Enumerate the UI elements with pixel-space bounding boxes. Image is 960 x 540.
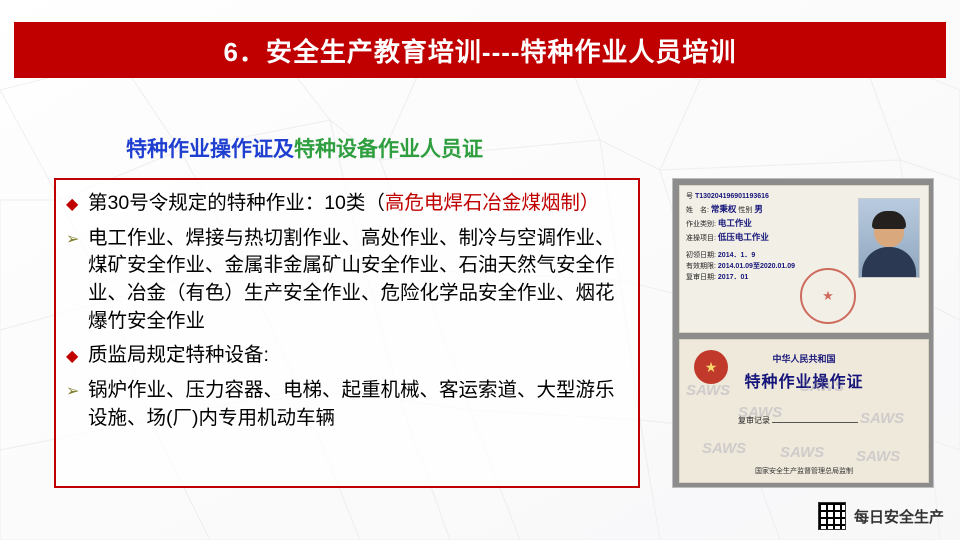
list-item-text: 锅炉作业、压力容器、电梯、起重机械、客运索道、大型游乐设施、场(厂)内专用机动车… xyxy=(88,377,626,432)
field-name-label: 姓 名: xyxy=(686,207,709,214)
field-issue-label: 初领日期: xyxy=(686,252,716,259)
subtitle-part3: 特种设备作业人员证 xyxy=(294,138,483,161)
page-title: 6．安全生产教育培训----特种作业人员培训 xyxy=(223,32,736,69)
content-box: ◆ 第30号令规定的特种作业：10类（高危电焊石冶金煤烟制） ➢ 电工作业、焊接… xyxy=(54,178,640,488)
field-name: 姓 名: 常秉权 性别 男 xyxy=(686,203,854,216)
portrait-photo xyxy=(858,198,920,278)
field-category-label: 作业类别: xyxy=(686,221,716,228)
field-issue-value: 2014．1．9 xyxy=(718,252,755,259)
item1-tail: ） xyxy=(580,192,600,214)
certificate-photo: 号 T130204196901193616 姓 名: 常秉权 性别 男 作业类别… xyxy=(672,178,934,488)
item1-red: 高危电焊石冶金煤烟制 xyxy=(385,192,580,214)
footer-brand: 每日安全生产 xyxy=(818,502,944,530)
list-item: ◆ 质监局规定特种设备: xyxy=(66,342,626,370)
list-item: ◆ 第30号令规定的特种作业：10类（高危电焊石冶金煤烟制） xyxy=(66,190,626,218)
portrait-body xyxy=(862,247,916,277)
list-item-text: 电工作业、焊接与热切割作业、高处作业、制冷与空调作业、煤矿安全作业、金属非金属矿… xyxy=(88,225,626,336)
field-gender-label: 性别 xyxy=(738,207,752,214)
certificate-sign-row: 复审记录 xyxy=(738,412,858,426)
qr-code-icon xyxy=(818,502,846,530)
field-valid-label: 有效期限: xyxy=(686,263,716,270)
field-gender-value: 男 xyxy=(754,204,763,214)
official-stamp-icon: ★ xyxy=(800,268,856,324)
field-number: 号 T130204196901193616 xyxy=(686,192,854,202)
field-review-label: 复审日期: xyxy=(686,274,716,281)
certificate-country: 中华人民共和国 xyxy=(680,352,928,365)
diamond-marker-icon: ◆ xyxy=(66,190,88,217)
item1-plain: 第30号令规定的特种作业：10类（ xyxy=(88,192,385,214)
stamp-star-icon: ★ xyxy=(822,288,834,304)
certificate-footer: 国家安全生产监督管理总局监制 xyxy=(680,466,928,476)
slide: 6．安全生产教育培训----特种作业人员培训 特种作业操作证及特种设备作业人员证… xyxy=(0,0,960,540)
field-item-value: 低压电工作业 xyxy=(718,232,769,242)
watermark: SAWS xyxy=(780,444,824,461)
arrow-marker-icon: ➢ xyxy=(66,225,88,252)
watermark: SAWS xyxy=(860,410,904,427)
list-item-text: 质监局规定特种设备: xyxy=(88,342,626,370)
subtitle-part1: 特种作业操作证 xyxy=(126,138,273,161)
certificate-card-back: ★ 中华人民共和国 特种作业操作证 复审记录 国家安全生产监督管理总局监制 SA… xyxy=(679,339,929,483)
diamond-marker-icon: ◆ xyxy=(66,342,88,369)
certificate-card-front: 号 T130204196901193616 姓 名: 常秉权 性别 男 作业类别… xyxy=(679,185,929,333)
watermark: SAWS xyxy=(702,440,746,457)
field-item: 准操项目: 低压电工作业 xyxy=(686,231,854,244)
list-item-text: 第30号令规定的特种作业：10类（高危电焊石冶金煤烟制） xyxy=(88,190,626,218)
signature-line xyxy=(772,412,858,423)
certificate-sign-label: 复审记录 xyxy=(738,416,770,425)
subtitle: 特种作业操作证及特种设备作业人员证 xyxy=(126,133,483,163)
field-number-label: 号 xyxy=(686,193,693,200)
field-item-label: 准操项目: xyxy=(686,235,716,242)
arrow-marker-icon: ➢ xyxy=(66,377,88,404)
portrait-hair xyxy=(872,211,906,229)
list-item: ➢ 锅炉作业、压力容器、电梯、起重机械、客运索道、大型游乐设施、场(厂)内专用机… xyxy=(66,377,626,432)
field-issue: 初领日期: 2014．1．9 xyxy=(686,251,854,261)
watermark: SAWS xyxy=(856,448,900,465)
certificate-title: 特种作业操作证 xyxy=(680,368,928,392)
subtitle-part2: 及 xyxy=(273,138,294,161)
field-name-value: 常秉权 xyxy=(711,204,737,214)
slide-title-bar: 6．安全生产教育培训----特种作业人员培训 xyxy=(14,22,946,78)
field-number-value: T130204196901193616 xyxy=(695,193,769,200)
field-review-value: 2017．01 xyxy=(718,274,748,281)
list-item: ➢ 电工作业、焊接与热切割作业、高处作业、制冷与空调作业、煤矿安全作业、金属非金… xyxy=(66,225,626,336)
field-valid-value: 2014.01.09至2020.01.09 xyxy=(718,263,795,270)
brand-label: 每日安全生产 xyxy=(854,506,944,527)
field-category: 作业类别: 电工作业 xyxy=(686,217,854,230)
field-category-value: 电工作业 xyxy=(718,218,752,228)
